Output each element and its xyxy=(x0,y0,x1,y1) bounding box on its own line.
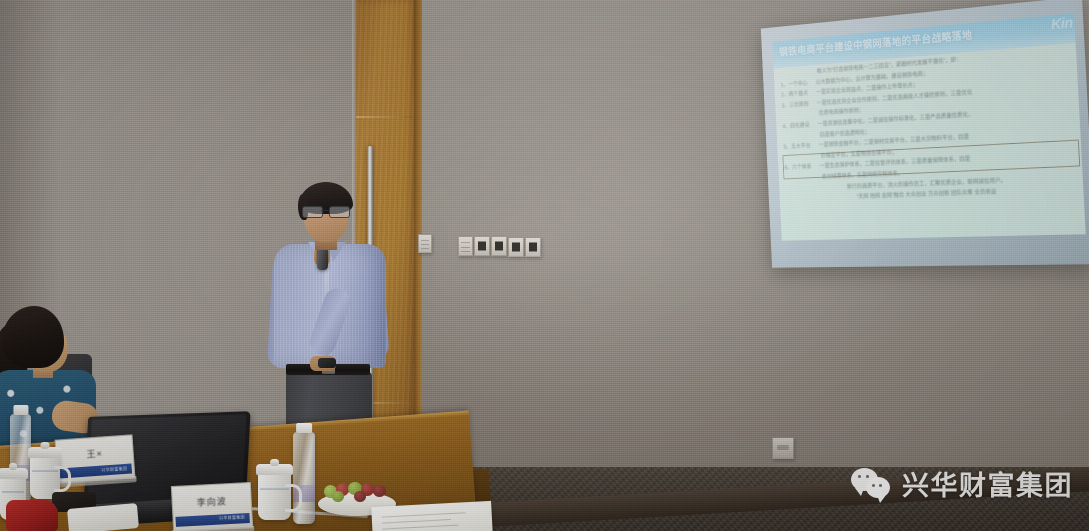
name-card-band-text: 兴华财富集团 xyxy=(101,465,127,473)
presentation-clicker[interactable] xyxy=(318,358,336,368)
red-desk-item xyxy=(6,500,58,531)
glasses-lens-right xyxy=(329,206,350,218)
door-panel-seam-top xyxy=(356,116,416,118)
photo-scene: 钢铁电商平台建设中钢网落地的平台战略落地 Kin 概义为“打造钢铁电商一二三四五… xyxy=(0,0,1089,531)
teacup-lid-knob xyxy=(41,442,50,449)
name-card-band-text: 兴华财富集团 xyxy=(219,514,245,521)
projector-glare xyxy=(761,0,1089,268)
teacup-decal-band xyxy=(32,470,58,472)
wechat-icon xyxy=(851,468,893,500)
teacup-decal-band xyxy=(260,488,289,490)
light-switch-blank-1[interactable] xyxy=(418,234,432,253)
name-card-stand xyxy=(172,526,255,531)
light-switch-4[interactable] xyxy=(525,237,541,257)
wall-outlet[interactable] xyxy=(772,437,794,459)
document-paper[interactable] xyxy=(371,501,493,531)
name-card: 李向波 兴华财富集团 xyxy=(171,482,253,531)
name-card-band: 兴华财富集团 xyxy=(176,513,250,527)
name-card-label: 王× xyxy=(56,445,133,463)
teacup-lid-knob xyxy=(270,459,280,466)
bottle-cap xyxy=(13,405,28,415)
projection-screen: 钢铁电商平台建设中钢网落地的平台战略落地 Kin 概义为“打造钢铁电商一二三四五… xyxy=(718,0,1089,264)
light-switch-3[interactable] xyxy=(508,237,524,257)
fruit-red xyxy=(354,491,366,502)
light-switch-2[interactable] xyxy=(491,236,507,256)
light-switch-1[interactable] xyxy=(474,236,490,256)
projection-screen-surface: 钢铁电商平台建设中钢网落地的平台战略落地 Kin 概义为“打造钢铁电商一二三四五… xyxy=(761,0,1089,268)
glasses-lens-left xyxy=(302,206,323,218)
light-switch-blank-2[interactable] xyxy=(458,236,473,256)
attendee-hair xyxy=(2,306,64,368)
presenter-glasses xyxy=(301,206,351,216)
bottle-cap xyxy=(296,423,312,433)
wechat-bubble-front xyxy=(866,477,890,498)
teacup[interactable] xyxy=(258,472,291,520)
glasses-bridge xyxy=(321,210,329,211)
wechat-watermark: 兴华财富集团 xyxy=(851,464,1073,503)
teacup-decal-band xyxy=(2,491,25,493)
fruit-grape xyxy=(332,491,344,502)
teacup-lid-knob xyxy=(9,463,17,470)
name-card-label: 李向波 xyxy=(172,493,251,510)
fruit-red xyxy=(373,485,386,497)
wechat-watermark-text: 兴华财富集团 xyxy=(902,464,1073,503)
white-napkin xyxy=(67,503,139,531)
